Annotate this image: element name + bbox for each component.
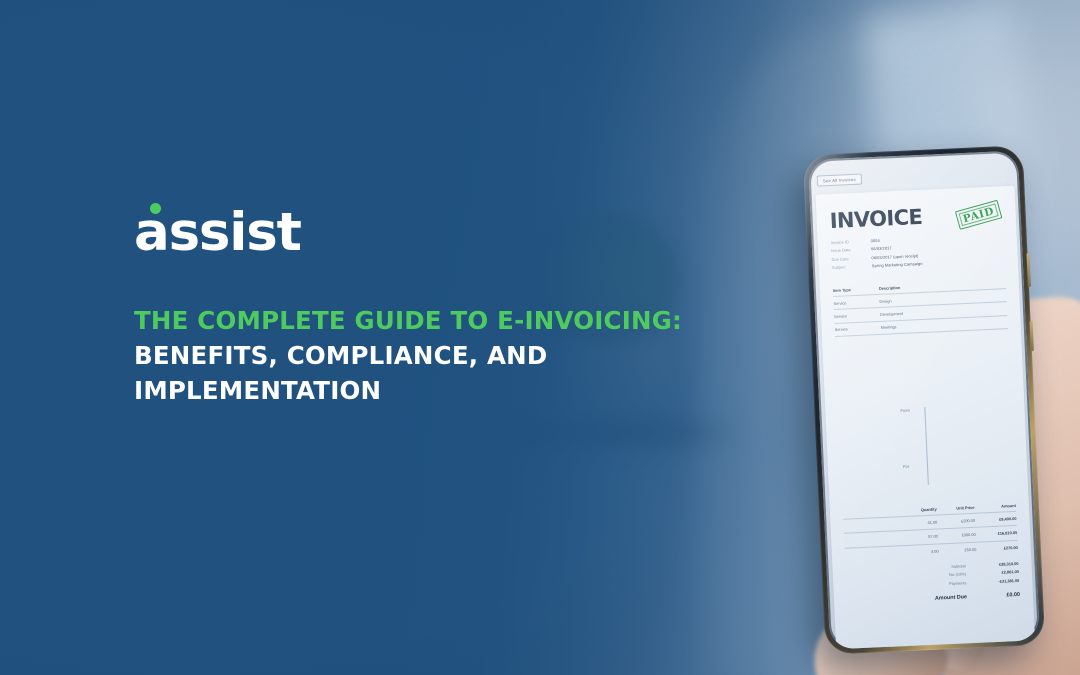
summary-value: £28,310.00	[972, 561, 1018, 568]
amount-due-row: Amount Due £0.00	[847, 592, 1020, 606]
summary-value: -£31,381.00	[973, 578, 1019, 585]
green-dot-icon	[150, 203, 161, 214]
cell-quantity: 4.00	[845, 548, 939, 557]
cell-unit-price: £300.00	[938, 532, 976, 539]
for-label: For	[903, 463, 909, 468]
cell-unit-price: £50.00	[938, 547, 976, 554]
page-title: THE COMPLETE GUIDE TO E-INVOICING: BENEF…	[134, 304, 734, 408]
phone-screen: See All Invoices INVOICE PAID Invoice ID…	[808, 150, 1040, 649]
cell-item-type: Service	[835, 325, 881, 332]
meta-value: 0004	[871, 239, 880, 244]
column-item-type: Item Type	[833, 285, 879, 292]
headline-line-1: THE COMPLETE GUIDE TO E-INVOICING:	[134, 304, 734, 339]
invoice-summary: Subtotal £28,310.00 Tax (10%) £2,861.00 …	[846, 561, 1020, 606]
meta-label: Due Date	[831, 256, 871, 262]
cell-description: Design	[879, 298, 891, 304]
smartphone: See All Invoices INVOICE PAID Invoice ID…	[803, 145, 1045, 654]
meta-value: 06/03/2017	[871, 247, 892, 252]
from-label: From	[900, 407, 910, 412]
hand-holding-phone: See All Invoices INVOICE PAID Invoice ID…	[760, 0, 1080, 675]
invoice-sheet: INVOICE PAID Invoice ID 0004 Issue Date …	[816, 186, 1036, 650]
cell-description: Meetings	[881, 324, 897, 330]
line-items-table: Item Type Description Service Design Ser…	[833, 276, 1008, 337]
summary-label: Subtotal	[920, 563, 972, 570]
summary-label: Tax (10%)	[921, 571, 973, 578]
headline-line-3: IMPLEMENTATION	[134, 374, 734, 409]
cell-quantity: 57.00	[844, 534, 938, 543]
cell-quantity: 41.00	[844, 520, 938, 529]
amounts-table: Quantity Unit Price Amount 41.00 £200.00…	[843, 499, 1018, 562]
from-for-block: From For	[838, 401, 1015, 491]
meta-value: 06/03/2017 (upon receipt)	[871, 254, 918, 260]
assist-logo: assist	[134, 206, 301, 259]
invoice-meta: Invoice ID 0004 Issue Date 06/03/2017 Du…	[831, 233, 1005, 270]
see-all-invoices-button[interactable]: See All Invoices	[817, 173, 862, 187]
cell-description: Development	[880, 311, 903, 317]
column-description: Description	[879, 284, 901, 290]
meta-value: Spring Marketing Campaign	[872, 262, 923, 268]
cell-item-type: Service	[833, 299, 879, 306]
from-for-divider	[924, 407, 928, 485]
amount-due-value: £0.00	[974, 592, 1020, 600]
content-block: assist THE COMPLETE GUIDE TO E-INVOICING…	[134, 206, 734, 408]
summary-value: £2,861.00	[973, 569, 1019, 576]
meta-label: Subject	[832, 264, 872, 270]
cell-unit-price: £200.00	[937, 518, 975, 525]
invoice-header: INVOICE PAID	[829, 203, 1003, 232]
summary-label: Payments	[921, 580, 973, 587]
paid-stamp: PAID	[955, 200, 1002, 230]
meta-label: Invoice ID	[831, 239, 871, 245]
cell-amount: £270.00	[976, 545, 1018, 552]
cell-item-type: Service	[834, 312, 880, 319]
invoice-app: See All Invoices INVOICE PAID Invoice ID…	[808, 150, 1040, 649]
invoice-title: INVOICE	[829, 207, 922, 232]
amount-due-label: Amount Due	[935, 594, 974, 602]
cell-amount: £16,810.00	[976, 530, 1018, 537]
column-amount: Amount	[974, 503, 1016, 510]
headline-line-2: BENEFITS, COMPLIANCE, AND	[134, 339, 734, 374]
column-unit-price: Unit Price	[937, 505, 975, 512]
cell-amount: £8,400.00	[975, 516, 1017, 523]
meta-label: Issue Date	[831, 248, 871, 254]
banner-stage: assist THE COMPLETE GUIDE TO E-INVOICING…	[0, 0, 1080, 675]
